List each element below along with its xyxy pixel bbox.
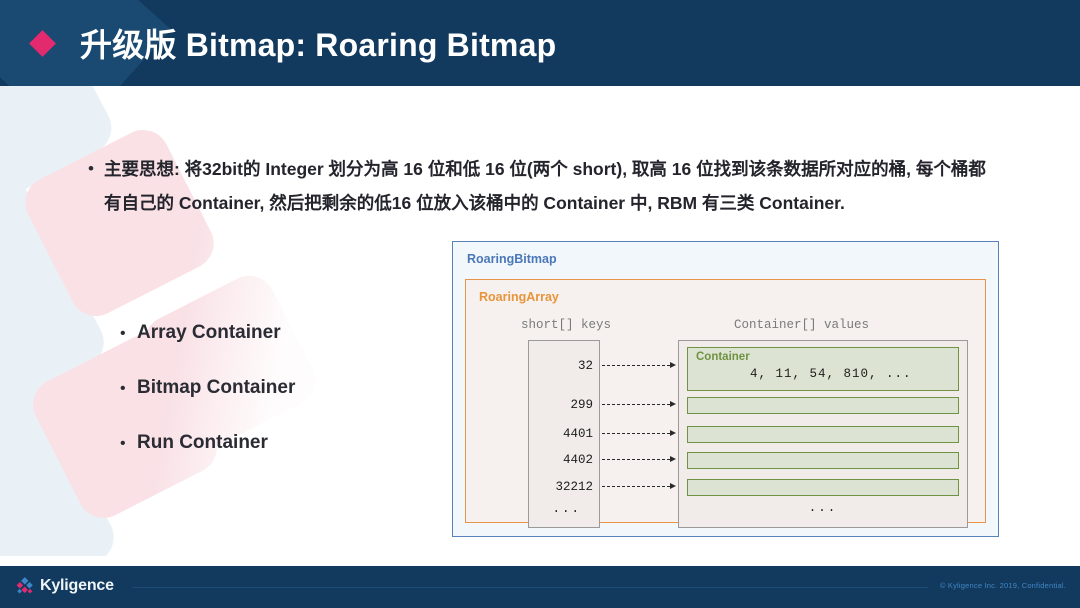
roaring-array-panel: RoaringArray short[] keys Container[] va… <box>465 279 986 523</box>
list-item-label: Run Container <box>137 432 268 454</box>
diamond-icon <box>29 30 56 57</box>
list-bullet-marker: • <box>120 325 137 343</box>
values-ellipsis: ... <box>679 501 967 515</box>
container-box <box>687 452 959 469</box>
list-bullet-marker: • <box>120 435 137 453</box>
brand-name: Kyligence <box>40 577 114 595</box>
key-cell: 32212 <box>555 480 593 494</box>
key-cell: 299 <box>570 398 593 412</box>
connector-line <box>602 365 670 366</box>
list-item: • Bitmap Container <box>120 377 295 399</box>
connector-line <box>602 486 670 487</box>
list-item: • Array Container <box>120 322 295 344</box>
values-column-header: Container[] values <box>734 318 869 332</box>
roaring-bitmap-diagram: RoaringBitmap RoaringArray short[] keys … <box>452 241 999 537</box>
keys-ellipsis: ... <box>552 502 581 516</box>
container-type-list: • Array Container • Bitmap Container • R… <box>120 322 295 487</box>
connector-line <box>602 433 670 434</box>
container-label: Container <box>696 351 750 363</box>
copyright-text: © Kyligence Inc. 2019, Confidential. <box>940 581 1066 590</box>
diagram-outer-label: RoaringBitmap <box>467 252 557 266</box>
paragraph-bullet-marker: • <box>88 152 94 220</box>
connector-arrowhead <box>670 456 676 462</box>
slide-header: 升级版 Bitmap: Roaring Bitmap <box>0 0 1080 86</box>
key-cell: 4402 <box>563 453 593 467</box>
keys-column-header: short[] keys <box>521 318 611 332</box>
container-box <box>687 479 959 496</box>
list-bullet-marker: • <box>120 380 137 398</box>
connector-line <box>602 459 670 460</box>
list-item-label: Array Container <box>137 322 281 344</box>
keys-array-box: 32 299 4401 4402 32212 ... <box>528 340 600 528</box>
connector-arrowhead <box>670 483 676 489</box>
paragraph-text: 主要思想: 将32bit的 Integer 划分为高 16 位和低 16 位(两… <box>104 152 988 220</box>
kyligence-logo-icon <box>14 575 36 597</box>
footer-divider <box>132 587 928 588</box>
container-box <box>687 397 959 414</box>
key-cell: 4401 <box>563 427 593 441</box>
connector-line <box>602 404 670 405</box>
key-cell: 32 <box>578 359 593 373</box>
slide: 升级版 Bitmap: Roaring Bitmap • 主要思想: 将32bi… <box>0 0 1080 608</box>
brand-logo: Kyligence <box>14 575 114 597</box>
page-title: 升级版 Bitmap: Roaring Bitmap <box>80 20 556 66</box>
list-item-label: Bitmap Container <box>137 377 295 399</box>
slide-footer: Kyligence © Kyligence Inc. 2019, Confide… <box>0 566 1080 608</box>
container-box <box>687 426 959 443</box>
values-array-box: Container 4, 11, 54, 810, ... ... <box>678 340 968 528</box>
list-item: • Run Container <box>120 432 295 454</box>
container-values: 4, 11, 54, 810, ... <box>750 367 912 381</box>
main-paragraph: • 主要思想: 将32bit的 Integer 划分为高 16 位和低 16 位… <box>88 152 988 220</box>
connector-arrowhead <box>670 430 676 436</box>
container-box: Container 4, 11, 54, 810, ... <box>687 347 959 391</box>
diagram-inner-label: RoaringArray <box>479 290 559 304</box>
connector-arrowhead <box>670 401 676 407</box>
connector-arrowhead <box>670 362 676 368</box>
